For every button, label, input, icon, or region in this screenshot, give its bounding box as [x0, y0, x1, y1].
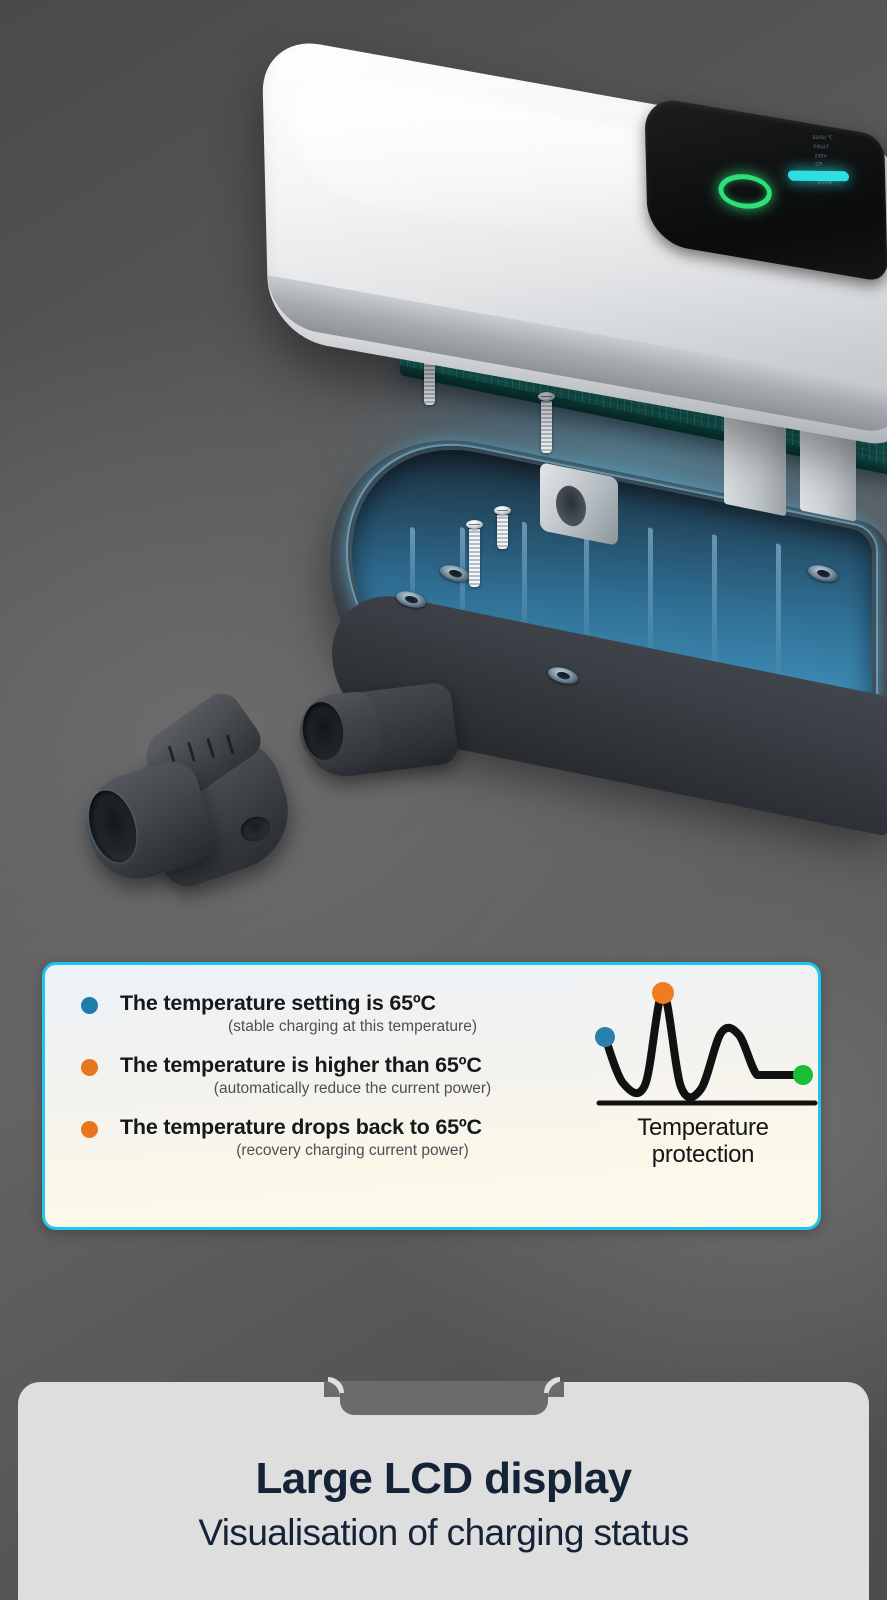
- grommet-ridge: [226, 734, 235, 754]
- bullet-dot-orange: [81, 1059, 98, 1076]
- lcd-label: OVER: [817, 180, 881, 187]
- bullet-list: The temperature setting is 65ºC (stable …: [45, 965, 585, 1227]
- chart-title-line2: protection: [585, 1142, 821, 1169]
- bottom-caption-panel: Large LCD display Visualisation of charg…: [18, 1382, 869, 1600]
- chart-marker-recovery: [793, 1065, 813, 1085]
- panel-notch: [340, 1381, 548, 1415]
- list-item: The temperature setting is 65ºC (stable …: [67, 991, 585, 1037]
- list-item: The temperature is higher than 65ºC (aut…: [67, 1053, 585, 1099]
- lcd-label: CP: [815, 163, 879, 170]
- screw: [494, 506, 511, 549]
- lcd-label: FAULT: [813, 145, 877, 152]
- grommet-ridge: [206, 738, 215, 758]
- lcd-label-group: 50/60 ℃ FAULT 230V CP DC 6mA OVER: [808, 131, 886, 199]
- chart-title: Temperature protection: [585, 1115, 821, 1169]
- product-hero-image: 50/60 ℃ FAULT 230V CP DC 6mA OVER: [0, 0, 887, 950]
- bullet-main-text: The temperature setting is 65ºC: [120, 991, 585, 1016]
- temperature-protection-card: The temperature setting is 65ºC (stable …: [42, 962, 821, 1230]
- chart-title-line1: Temperature: [585, 1115, 821, 1142]
- chart-marker-setting: [595, 1027, 615, 1047]
- lcd-label: 50/60 ℃: [812, 136, 876, 143]
- bullet-dot-blue: [81, 997, 98, 1014]
- caption-text: Large LCD display Visualisation of charg…: [18, 1454, 869, 1555]
- list-item: The temperature drops back to 65ºC (reco…: [67, 1115, 585, 1161]
- bullet-sub-text: (recovery charging current power): [120, 1142, 585, 1161]
- lcd-ring-indicator-icon: [716, 174, 775, 209]
- page-title: Large LCD display: [18, 1454, 869, 1505]
- bullet-text: The temperature is higher than 65ºC (aut…: [120, 1053, 585, 1099]
- bullet-dot-orange: [81, 1121, 98, 1138]
- page-root: 50/60 ℃ FAULT 230V CP DC 6mA OVER: [0, 0, 887, 1600]
- bullet-sub-text: (automatically reduce the current power): [120, 1080, 585, 1099]
- bullet-text: The temperature drops back to 65ºC (reco…: [120, 1115, 585, 1161]
- chart-line: [605, 993, 803, 1097]
- temperature-chart-area: Temperature protection: [585, 965, 818, 1227]
- bullet-main-text: The temperature drops back to 65ºC: [120, 1115, 585, 1140]
- bullet-sub-text: (stable charging at this temperature): [120, 1018, 585, 1037]
- screw: [466, 520, 483, 587]
- cable-grommet-cap: [78, 697, 292, 889]
- screw: [538, 392, 555, 453]
- lcd-label: 230V: [814, 154, 878, 161]
- lcd-label: DC 6mA: [816, 172, 880, 179]
- chart-marker-peak: [652, 982, 674, 1004]
- temperature-waveform-chart: [593, 975, 821, 1115]
- page-subtitle: Visualisation of charging status: [18, 1511, 869, 1555]
- bullet-text: The temperature setting is 65ºC (stable …: [120, 991, 585, 1037]
- chart-svg: [593, 975, 821, 1115]
- grommet-ridge: [187, 742, 196, 762]
- bullet-main-text: The temperature is higher than 65ºC: [120, 1053, 585, 1078]
